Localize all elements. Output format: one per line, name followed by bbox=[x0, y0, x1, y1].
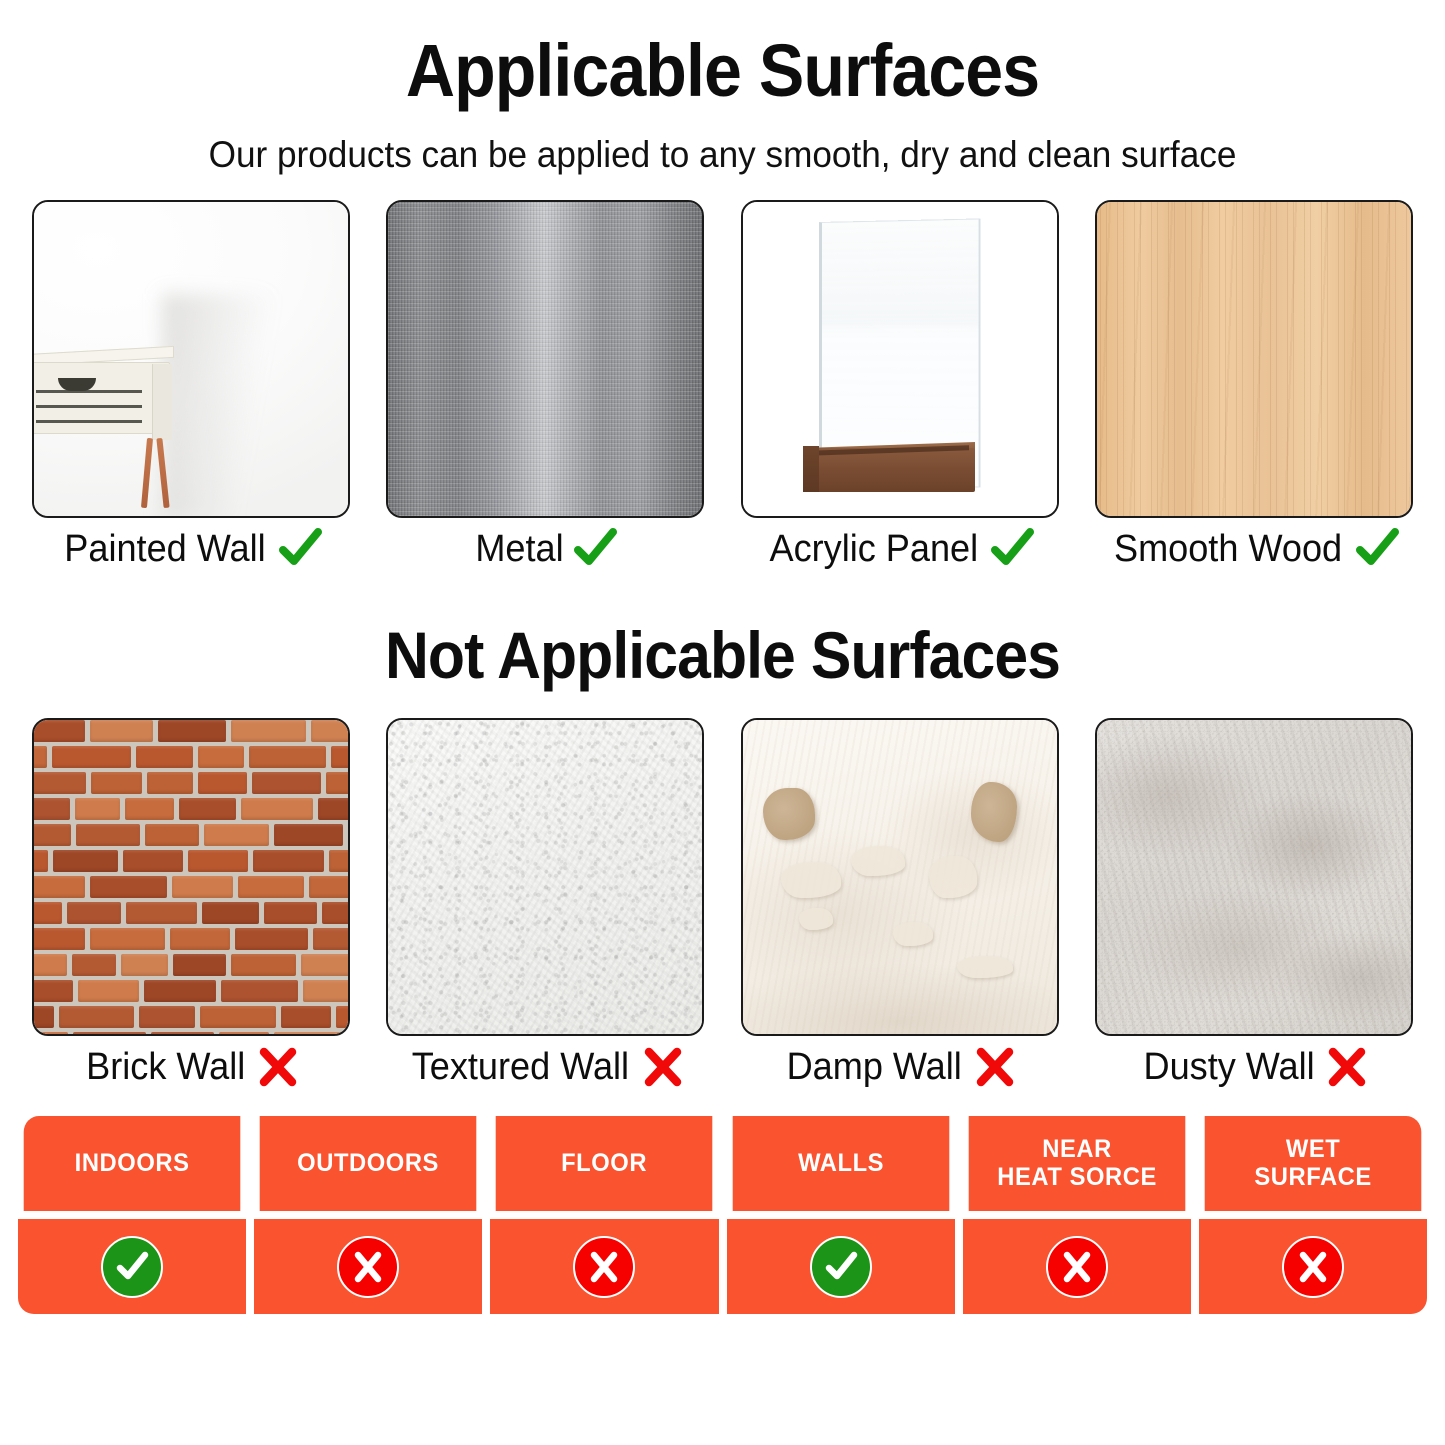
usage-header-near-heat-source: NEAR HEAT SORCE bbox=[968, 1116, 1185, 1211]
surface-card-acrylic-panel: Acrylic Panel bbox=[741, 200, 1059, 580]
brick-wall-photo bbox=[32, 718, 350, 1036]
surface-card-brick-wall: Brick Wall bbox=[32, 718, 350, 1098]
check-circle-icon bbox=[810, 1236, 872, 1298]
check-mark-icon bbox=[989, 526, 1035, 572]
cross-mark-icon bbox=[641, 1045, 685, 1089]
usage-status-floor bbox=[490, 1219, 718, 1314]
surface-label: Brick Wall bbox=[86, 1046, 245, 1089]
usage-status-wet-surface bbox=[1199, 1219, 1427, 1314]
usage-status-indoors bbox=[18, 1219, 246, 1314]
surface-card-smooth-wood: Smooth Wood bbox=[1095, 200, 1413, 580]
dusty-wall-photo bbox=[1095, 718, 1413, 1036]
surface-card-dusty-wall: Dusty Wall bbox=[1095, 718, 1413, 1098]
applicable-surfaces-row: Painted Wall Metal bbox=[0, 200, 1445, 580]
surface-caption: Acrylic Panel bbox=[741, 518, 1059, 580]
usage-table-status-row bbox=[18, 1219, 1427, 1314]
textured-wall-photo bbox=[386, 718, 704, 1036]
surface-label: Metal bbox=[475, 528, 563, 571]
surface-label: Textured Wall bbox=[412, 1046, 629, 1089]
painted-wall-photo bbox=[32, 200, 350, 518]
usage-table: INDOORS OUTDOORS FLOOR WALLS NEAR HEAT S… bbox=[0, 1116, 1445, 1314]
damp-wall-photo bbox=[741, 718, 1059, 1036]
usage-header-label: WALLS bbox=[798, 1149, 884, 1177]
usage-header-floor: FLOOR bbox=[496, 1116, 713, 1211]
surface-caption: Textured Wall bbox=[386, 1036, 704, 1098]
check-mark-icon bbox=[1354, 526, 1400, 572]
acrylic-panel-photo bbox=[741, 200, 1059, 518]
usage-header-label-line2: HEAT SORCE bbox=[997, 1163, 1157, 1191]
brushed-metal-photo bbox=[386, 200, 704, 518]
cross-circle-icon bbox=[1046, 1236, 1108, 1298]
surface-caption: Smooth Wood bbox=[1095, 518, 1413, 580]
surface-card-textured-wall: Textured Wall bbox=[386, 718, 704, 1098]
usage-header-outdoors: OUTDOORS bbox=[260, 1116, 477, 1211]
surface-card-damp-wall: Damp Wall bbox=[741, 718, 1059, 1098]
cross-mark-icon bbox=[973, 1045, 1017, 1089]
surface-caption: Metal bbox=[386, 518, 704, 580]
usage-status-near-heat-source bbox=[963, 1219, 1191, 1314]
cross-mark-icon bbox=[256, 1045, 300, 1089]
not-applicable-title: Not Applicable Surfaces bbox=[58, 622, 1387, 688]
surface-caption: Brick Wall bbox=[32, 1036, 350, 1098]
usage-status-walls bbox=[727, 1219, 955, 1314]
usage-header-label-line1: WET bbox=[1286, 1135, 1340, 1163]
cross-circle-icon bbox=[1282, 1236, 1344, 1298]
page-subtitle: Our products can be applied to any smoot… bbox=[36, 108, 1409, 176]
surface-caption: Dusty Wall bbox=[1095, 1036, 1413, 1098]
surface-card-painted-wall: Painted Wall bbox=[32, 200, 350, 580]
surface-label: Acrylic Panel bbox=[769, 528, 978, 571]
usage-status-outdoors bbox=[254, 1219, 482, 1314]
infographic-page: Applicable Surfaces Our products can be … bbox=[0, 0, 1445, 1445]
usage-header-label-line1: NEAR bbox=[1042, 1135, 1112, 1163]
usage-table-header-row: INDOORS OUTDOORS FLOOR WALLS NEAR HEAT S… bbox=[18, 1116, 1427, 1211]
surface-label: Smooth Wood bbox=[1114, 528, 1342, 571]
usage-header-label: OUTDOORS bbox=[297, 1149, 439, 1177]
usage-header-label: INDOORS bbox=[75, 1149, 190, 1177]
cross-mark-icon bbox=[1325, 1045, 1369, 1089]
surface-card-metal: Metal bbox=[386, 200, 704, 580]
not-applicable-surfaces-row: Brick Wall Textured Wall bbox=[0, 718, 1445, 1098]
surface-caption: Damp Wall bbox=[741, 1036, 1059, 1098]
usage-header-wet-surface: WET SURFACE bbox=[1205, 1116, 1422, 1211]
usage-header-label: FLOOR bbox=[561, 1149, 647, 1177]
check-mark-icon bbox=[277, 526, 323, 572]
page-title: Applicable Surfaces bbox=[58, 0, 1387, 108]
surface-caption: Painted Wall bbox=[32, 518, 350, 580]
cross-circle-icon bbox=[337, 1236, 399, 1298]
surface-label: Damp Wall bbox=[787, 1046, 962, 1089]
check-circle-icon bbox=[101, 1236, 163, 1298]
usage-header-label-line2: SURFACE bbox=[1254, 1163, 1371, 1191]
smooth-wood-photo bbox=[1095, 200, 1413, 518]
usage-header-walls: WALLS bbox=[732, 1116, 949, 1211]
cross-circle-icon bbox=[573, 1236, 635, 1298]
usage-header-indoors: INDOORS bbox=[24, 1116, 241, 1211]
surface-label: Painted Wall bbox=[64, 528, 265, 571]
surface-label: Dusty Wall bbox=[1143, 1046, 1314, 1089]
check-mark-icon bbox=[572, 526, 618, 572]
